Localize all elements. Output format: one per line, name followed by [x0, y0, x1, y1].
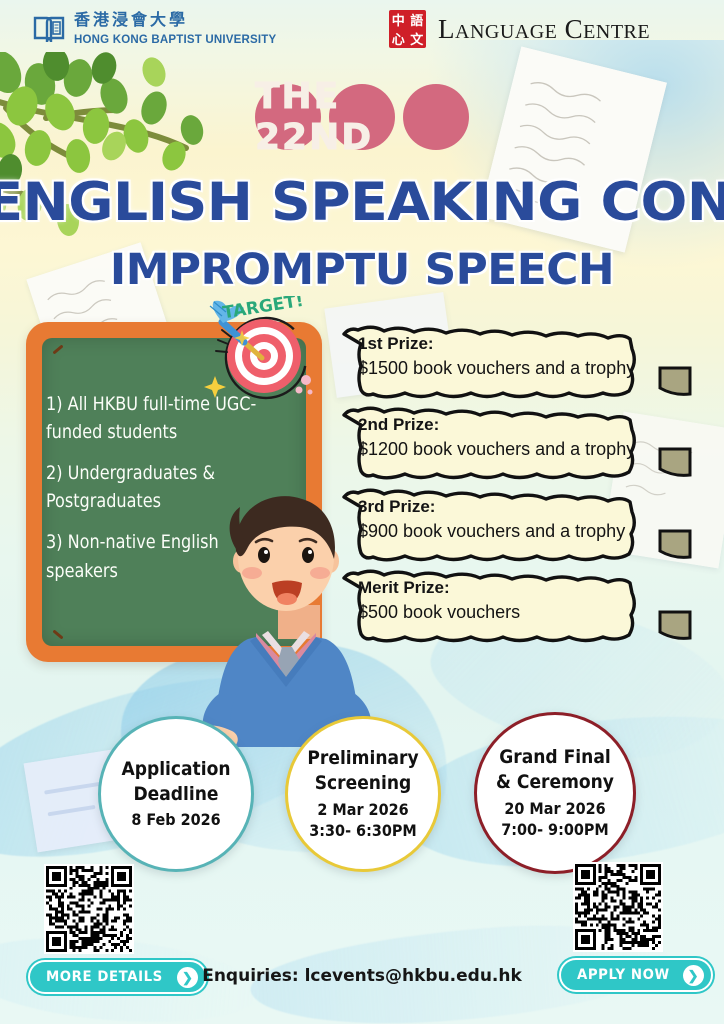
date-title-line2: Deadline [133, 782, 218, 807]
seal-char-2: 語 [408, 10, 427, 29]
lc-word1-cap: L [438, 14, 455, 44]
date-time: 3:30- 6:30PM [309, 820, 416, 842]
page-title: ENGLISH SPEAKING CONTEST [0, 172, 724, 233]
date-value: 8 Feb 2026 [131, 809, 220, 831]
lc-word2-rest: ENTRE [583, 21, 650, 43]
lc-word1-rest: ANGUAGE [455, 21, 557, 43]
edition-badge-label: THE 22ND [255, 84, 470, 150]
prize-label: 3rd Prize: [358, 496, 662, 519]
chinese-seal-icon: 中 語 心 文 [389, 10, 426, 48]
prize-label: Merit Prize: [358, 577, 662, 600]
date-circle-application-deadline: Application Deadline 8 Feb 2026 [98, 716, 254, 872]
prize-value: $500 book vouchers [358, 600, 662, 625]
open-book-icon [32, 13, 66, 47]
date-title-line1: Grand Final [499, 745, 610, 770]
hkbu-logo: 香港浸會大學 HONG KONG BAPTIST UNIVERSITY [32, 12, 276, 48]
date-circle-preliminary-screening: Preliminary Screening 2 Mar 2026 3:30- 6… [285, 716, 441, 872]
seal-char-3: 心 [389, 29, 408, 48]
prize-card: 3rd Prize: $900 book vouchers and a trop… [340, 487, 704, 563]
more-details-qr-code[interactable] [44, 864, 134, 954]
date-circle-grand-final: Grand Final & Ceremony 20 Mar 2026 7:00-… [474, 712, 636, 874]
date-time: 7:00- 9:00PM [501, 819, 608, 841]
date-title-line1: Application [121, 757, 230, 782]
prize-card: Merit Prize: $500 book vouchers [340, 568, 704, 644]
dartboard-target-icon: TARGET! [196, 296, 316, 404]
poster-canvas: 香港浸會大學 HONG KONG BAPTIST UNIVERSITY 中 語 … [0, 0, 724, 1024]
date-value: 2 Mar 2026 [317, 799, 408, 821]
date-value: 20 Mar 2026 [504, 798, 605, 820]
page-subtitle: IMPROMPTU SPEECH [0, 245, 724, 295]
prize-text: Merit Prize: $500 book vouchers [358, 577, 662, 625]
edition-badge: THE 22ND [255, 84, 470, 150]
seal-char-1: 中 [389, 10, 408, 29]
prize-text: 1st Prize: $1500 book vouchers and a tro… [358, 333, 662, 381]
language-centre-logo: 中 語 心 文 LANGUAGE CENTRE [389, 10, 650, 48]
poster-header: 香港浸會大學 HONG KONG BAPTIST UNIVERSITY 中 語 … [0, 0, 724, 58]
prize-text: 3rd Prize: $900 book vouchers and a trop… [358, 496, 662, 544]
language-centre-name: LANGUAGE CENTRE [438, 16, 650, 43]
prize-label: 1st Prize: [358, 333, 662, 356]
seal-char-4: 文 [408, 29, 427, 48]
prize-value: $1500 book vouchers and a trophy [358, 356, 662, 381]
hkbu-logo-text: 香港浸會大學 HONG KONG BAPTIST UNIVERSITY [74, 12, 276, 48]
prize-card: 1st Prize: $1500 book vouchers and a tro… [340, 324, 704, 400]
prize-value: $1200 book vouchers and a trophy [358, 437, 662, 462]
hkbu-name-english: HONG KONG BAPTIST UNIVERSITY [74, 34, 276, 46]
lc-word2-cap: C [565, 14, 584, 44]
enquiries-text: Enquiries: lcevents@hkbu.edu.hk [0, 966, 724, 986]
prize-card: 2nd Prize: $1200 book vouchers and a tro… [340, 405, 704, 481]
prize-label: 2nd Prize: [358, 414, 662, 437]
date-title-line2: Screening [315, 771, 412, 796]
hkbu-name-chinese: 香港浸會大學 [74, 10, 188, 29]
date-title-line2: & Ceremony [496, 770, 614, 795]
prize-text: 2nd Prize: $1200 book vouchers and a tro… [358, 414, 662, 462]
prize-value: $900 book vouchers and a trophy [358, 519, 662, 544]
date-title-line1: Preliminary [307, 746, 418, 771]
apply-now-qr-code[interactable] [573, 862, 663, 952]
